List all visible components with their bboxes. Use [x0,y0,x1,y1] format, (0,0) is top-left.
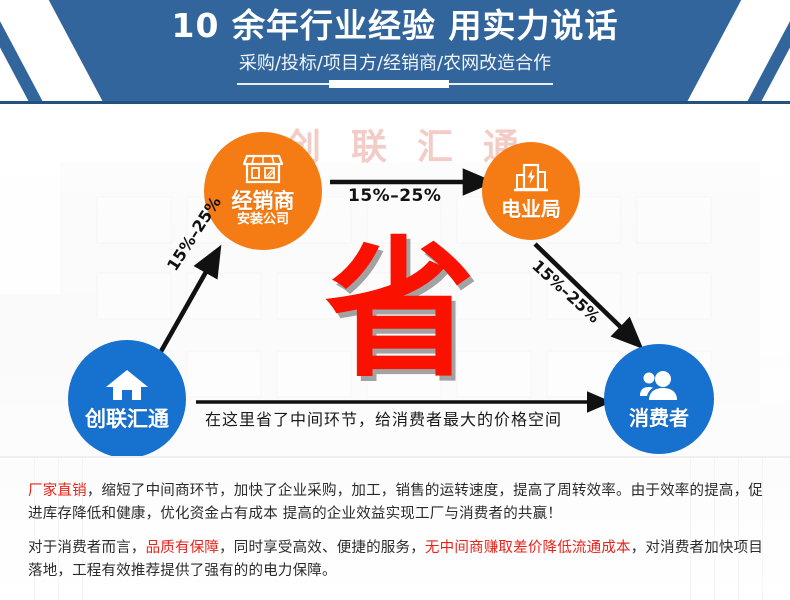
home-icon [105,368,149,406]
label-brand-to-consumer: 在这里省了中间环节，给消费者最大的价格空间 [205,406,562,430]
description-paragraph-2: 对于消费者而言，品质有保障，同时享受高效、便捷的服务，无中间商赚取差价降低流通成… [28,537,766,584]
description-section: 厂家直销，缩短了中间商环节，加快了企业采购，加工，销售的运转速度，提高了周转效率… [0,456,790,600]
users-icon [638,370,680,406]
flow-diagram: 创联汇通 15%–25% 15%–25% 15%–25% 在这里省了中间环节，给… [0,104,790,456]
shop-icon [243,154,283,188]
header-title: 10 余年行业经验 用实力说话 [172,9,619,44]
node-power-bureau-title: 电业局 [501,199,561,220]
node-consumer[interactable]: 消费者 [604,344,714,454]
highlight-no-middleman: 无中间商赚取差价降低流通成本 [425,540,631,556]
power-building-icon [512,163,550,197]
arrow-power-to-consumer [535,244,634,340]
node-brand-title: 创联汇通 [85,408,169,430]
paragraph-2-middle: ，同时享受高效、便捷的服务， [219,540,425,556]
highlight-quality: 品质有保障 [146,540,220,556]
node-dealer-subtitle: 安装公司 [237,213,289,227]
node-brand[interactable]: 创联汇通 [68,340,186,456]
node-dealer-title: 经销商 [232,190,295,212]
header-underline [237,82,553,86]
highlight-direct-sales: 厂家直销 [28,483,87,499]
header-underline-thick [329,80,449,88]
description-paragraph-1: 厂家直销，缩短了中间商环节，加快了企业采购，加工，销售的运转速度，提高了周转效率… [28,480,766,527]
node-consumer-title: 消费者 [629,408,689,429]
header-subtitle: 采购/投标/项目方/经销商/农网改造合作 [239,49,551,75]
paragraph-2-lead: 对于消费者而言， [28,540,146,556]
paragraph-1-rest: ，缩短了中间商环节，加快了企业采购，加工，销售的运转速度，提高了周转效率。由于效… [28,483,763,522]
node-power-bureau[interactable]: 电业局 [482,142,580,240]
label-dealer-to-power: 15%–25% [348,186,441,206]
saving-character: 省 [325,236,475,386]
arrow-brand-to-dealer [155,256,215,362]
header-banner: 10 余年行业经验 用实力说话 采购/投标/项目方/经销商/农网改造合作 [0,0,790,104]
node-dealer[interactable]: 经销商 安装公司 [204,132,322,250]
promo-banner: 10 余年行业经验 用实力说话 采购/投标/项目方/经销商/农网改造合作 [0,0,790,600]
